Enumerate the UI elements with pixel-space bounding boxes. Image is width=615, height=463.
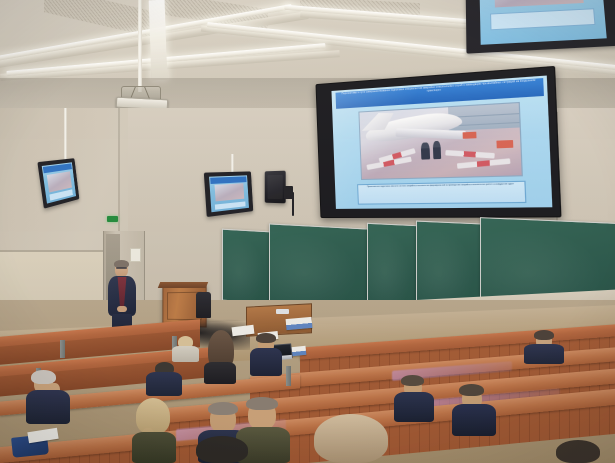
audience-torso-right-man-1 — [394, 392, 434, 422]
overhead-monitor-slide-caption — [490, 8, 596, 30]
lectern-top-surface — [158, 282, 208, 288]
overhead-monitor-screen — [479, 0, 607, 45]
control-device[interactable] — [276, 309, 289, 314]
audience-hair-bottom-right — [556, 440, 600, 463]
lecture-hall-photo: Перспективы и пути совершенствования под… — [0, 0, 615, 463]
audience-hair-grey-man — [31, 370, 56, 384]
audience-hair-right-man-2 — [459, 384, 484, 396]
audience-hair-foreground-woman — [314, 414, 388, 463]
left-monitor-slide-caption — [49, 190, 73, 201]
exit-sign-icon — [107, 216, 118, 222]
centre-monitor-slide-title — [211, 176, 247, 183]
desk-leg-3 — [286, 366, 291, 386]
documents-on-front-desk-2 — [286, 317, 313, 330]
audience-hair-bald-centre — [208, 402, 238, 415]
audience-hair-back-right — [534, 330, 554, 340]
presenter-chair — [196, 292, 211, 318]
audience-torso-laptop-man — [250, 348, 282, 376]
slide-photo-equipment-1 — [463, 131, 476, 138]
centre-monitor-screen — [209, 175, 250, 212]
ceiling-light-strip-5 — [149, 0, 168, 80]
wall-speaker-centre — [265, 171, 286, 204]
audience-torso-back-centre — [172, 346, 199, 362]
presenter-glasses-icon — [116, 267, 127, 269]
slide-photo — [358, 102, 523, 180]
chalkboard-panel-2 — [269, 223, 368, 307]
left-monitor-slide-photo — [47, 171, 72, 192]
audience-hair-foreground-dark — [196, 436, 248, 463]
left-monitor-screen — [42, 162, 76, 203]
slide-photo-person-1 — [421, 142, 430, 160]
wall-speaker-centre-post — [292, 192, 294, 216]
audience-torso-grey-man — [26, 390, 70, 424]
left-monitor-pole — [64, 108, 67, 164]
presenter-hands — [117, 306, 127, 312]
desk-leg-1 — [60, 340, 65, 358]
overhead-monitor-slide-photo — [494, 0, 584, 8]
speaker-grille — [268, 175, 283, 200]
chalkboard-panel-3 — [367, 223, 417, 307]
audience-torso-mid-left — [146, 372, 182, 396]
centre-monitor-slide-photo — [214, 184, 244, 202]
slide-photo-stretcher-3 — [445, 150, 495, 159]
audience-hair-blonde-woman — [136, 398, 170, 434]
main-presentation-display[interactable]: Перспективы и пути совершенствования под… — [315, 66, 561, 218]
slide-photo-person-2 — [432, 141, 441, 159]
audience-torso-front-woman — [204, 362, 236, 384]
audience-torso-blonde-woman — [132, 432, 176, 463]
overhead-repeater-monitor[interactable] — [465, 0, 615, 54]
audience-torso-back-right — [524, 344, 564, 364]
wall-notice — [130, 248, 141, 262]
chalkboard-panel-1 — [222, 229, 270, 304]
audience-torso-right-man-2 — [452, 404, 496, 436]
centre-repeater-monitor[interactable] — [204, 171, 253, 217]
slide-photo-stretcher-4 — [457, 158, 511, 169]
projector-pole — [138, 0, 142, 92]
slide-caption-box: Практическая подготовка личного состава … — [357, 181, 527, 205]
audience-hair-laptop-man — [256, 333, 276, 343]
centre-monitor-slide-caption — [215, 201, 246, 209]
presentation-slide: Перспективы и пути совершенствования под… — [332, 76, 553, 209]
audience-hair-right-man-1 — [401, 375, 424, 386]
slide-photo-equipment-2 — [496, 140, 513, 149]
audience-hair-olive-uniform — [246, 397, 278, 410]
